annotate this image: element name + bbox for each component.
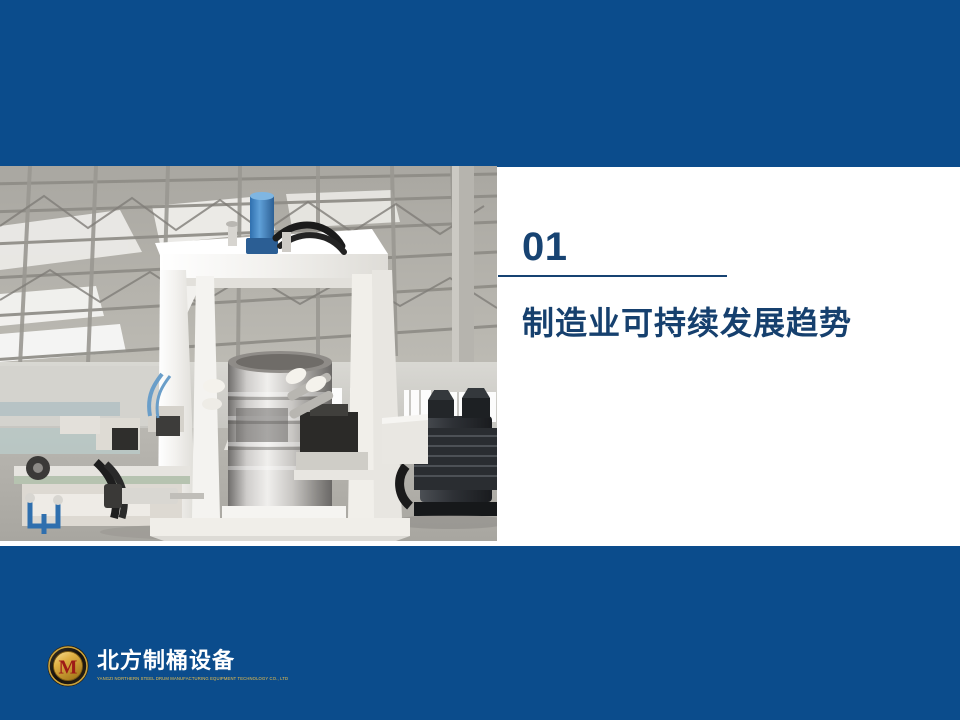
logo-name-cn: 北方制桶设备 [97,650,288,674]
section-number: 01 [522,225,928,269]
circular-m-badge-icon: M [47,645,89,687]
logo-wordmark: 北方制桶设备 YANGZI NORTHERN STEEL DRUM MANUFA… [97,650,288,682]
heading-divider [498,275,727,277]
company-logo: M 北方制桶设备 YANGZI NORTHERN STEEL DRUM MANU… [47,645,288,687]
factory-photo [0,166,497,541]
slide-canvas: 01 制造业可持续发展趋势 [0,0,960,720]
svg-text:M: M [59,657,78,679]
section-title: 制造业可持续发展趋势 [522,303,928,343]
section-heading-block: 01 制造业可持续发展趋势 [498,225,928,343]
logo-name-en: YANGZI NORTHERN STEEL DRUM MANUFACTURING… [97,675,288,682]
